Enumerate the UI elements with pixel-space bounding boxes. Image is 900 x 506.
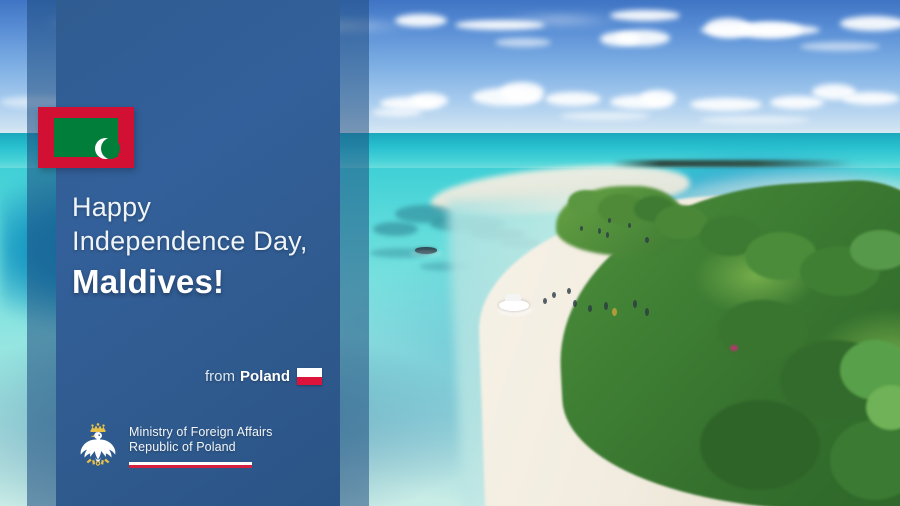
cloud bbox=[455, 20, 545, 30]
reef-patch bbox=[373, 222, 418, 236]
maldives-flag-icon bbox=[38, 107, 134, 168]
ministry-lockup-text: Ministry of Foreign Affairs Republic of … bbox=[129, 421, 273, 468]
person bbox=[608, 218, 611, 223]
bush bbox=[700, 400, 820, 490]
person bbox=[552, 292, 556, 298]
cloud bbox=[740, 22, 802, 38]
from-label: from bbox=[205, 368, 235, 385]
person bbox=[567, 288, 571, 294]
maldives-flag-green-field bbox=[54, 118, 118, 157]
headline-country: Maldives! bbox=[72, 258, 342, 306]
greeting-card: Happy Independence Day, Maldives! from P… bbox=[0, 0, 900, 506]
headline-line-1: Happy bbox=[72, 190, 342, 224]
panel-right-translucent-band bbox=[340, 0, 369, 506]
ministry-line-1: Ministry of Foreign Affairs bbox=[129, 425, 273, 440]
person bbox=[645, 308, 649, 316]
cloud bbox=[610, 10, 680, 21]
cloud bbox=[615, 30, 670, 46]
person bbox=[543, 298, 547, 304]
person bbox=[598, 228, 601, 234]
cloud bbox=[495, 38, 551, 47]
cloud bbox=[395, 14, 447, 27]
distant-treeline bbox=[612, 160, 852, 167]
person bbox=[588, 305, 592, 312]
cloud bbox=[500, 82, 544, 102]
ministry-line-2: Republic of Poland bbox=[129, 440, 273, 455]
headline-block: Happy Independence Day, Maldives! bbox=[72, 190, 342, 306]
person bbox=[580, 226, 583, 231]
boat bbox=[499, 300, 529, 311]
person bbox=[633, 300, 637, 308]
cloud bbox=[842, 92, 900, 105]
cloud bbox=[545, 92, 601, 106]
cloud bbox=[690, 98, 762, 111]
cloud bbox=[560, 112, 650, 120]
person bbox=[645, 237, 649, 243]
person bbox=[606, 232, 609, 238]
cloud bbox=[640, 90, 676, 106]
cloud bbox=[410, 93, 448, 108]
person bbox=[628, 223, 631, 228]
boat-canopy bbox=[505, 294, 521, 301]
person bbox=[573, 300, 577, 307]
poland-flag-white-stripe bbox=[297, 368, 322, 377]
bush bbox=[718, 300, 808, 360]
polish-eagle-icon bbox=[76, 421, 120, 471]
boat-wake bbox=[410, 250, 442, 257]
poland-flag-icon bbox=[297, 368, 322, 385]
poland-flag-red-stripe bbox=[297, 377, 322, 386]
panel-left-translucent-band bbox=[27, 0, 56, 506]
bush bbox=[568, 190, 602, 214]
ministry-lockup: Ministry of Foreign Affairs Republic of … bbox=[76, 421, 273, 471]
cloud bbox=[372, 108, 422, 117]
crescent-cutout bbox=[101, 138, 120, 159]
cloud bbox=[800, 42, 880, 51]
from-row: from Poland bbox=[0, 368, 340, 385]
flower-spot bbox=[730, 345, 738, 351]
person bbox=[604, 302, 608, 310]
from-country-label: Poland bbox=[240, 368, 290, 385]
person bbox=[612, 308, 617, 316]
stripe-red bbox=[129, 465, 252, 468]
ministry-stripe bbox=[129, 462, 252, 468]
cloud bbox=[770, 96, 824, 109]
headline-line-2: Independence Day, bbox=[72, 224, 342, 258]
cloud bbox=[840, 16, 900, 31]
cloud bbox=[700, 116, 810, 124]
